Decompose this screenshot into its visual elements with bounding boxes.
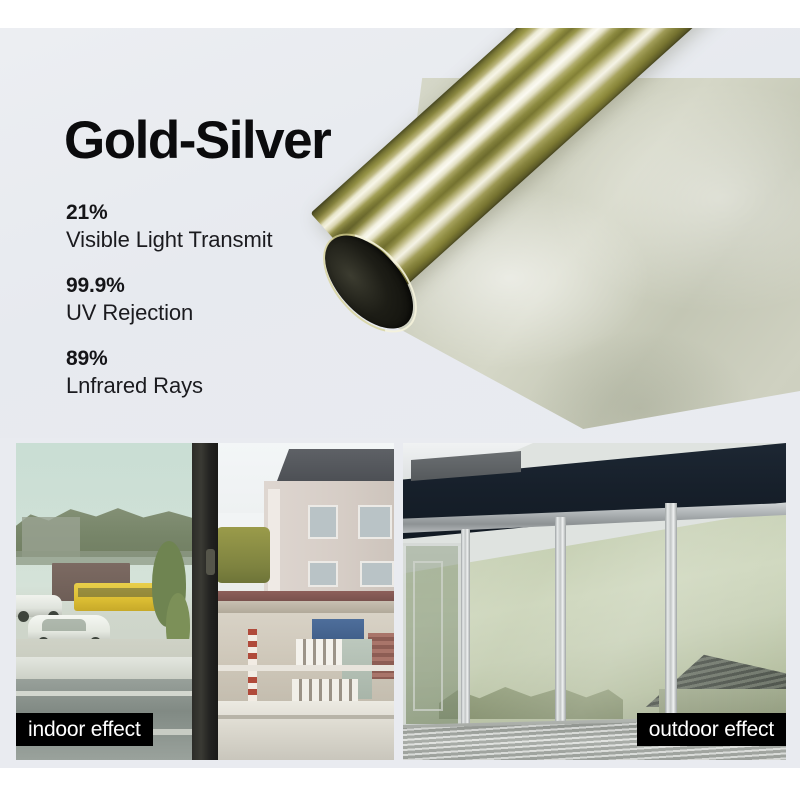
window-mullion [461, 529, 470, 727]
spec-value: 21% [66, 200, 366, 226]
product-banner: Gold-Silver 21% Visible Light Transmit 9… [0, 0, 800, 800]
deck-edge-line [216, 715, 394, 719]
house-window [308, 505, 338, 539]
spec-label: Visible Light Transmit [66, 226, 366, 255]
hero-section: Gold-Silver 21% Visible Light Transmit 9… [0, 28, 800, 438]
comparison-photo-strip: indoor effect ou [16, 443, 786, 760]
content-panel: Gold-Silver 21% Visible Light Transmit 9… [0, 28, 800, 768]
bus-windows [78, 588, 154, 597]
spec-list: 21% Visible Light Transmit 99.9% UV Reje… [66, 200, 366, 419]
spec-item-infrared-rays: 89% Lnfrared Rays [66, 346, 366, 401]
spec-label: UV Rejection [66, 299, 366, 328]
foreground-deck [216, 701, 394, 760]
film-roll-image [330, 28, 800, 438]
window-latch [206, 549, 215, 575]
house-window [308, 561, 338, 587]
spec-item-uv-rejection: 99.9% UV Rejection [66, 273, 366, 328]
house-window [358, 505, 392, 539]
spec-value: 99.9% [66, 273, 366, 299]
balcony-parapet [16, 657, 198, 679]
outdoor-effect-photo: outdoor effect [403, 443, 786, 760]
balcony-rail-upper [16, 691, 198, 696]
white-fence-lower [292, 679, 358, 701]
car-wheel [18, 611, 29, 622]
car-windshield [42, 619, 86, 631]
house-window [360, 561, 394, 587]
courtyard-railing [216, 665, 394, 671]
spec-value: 89% [66, 346, 366, 372]
gold-film-roll-body [311, 28, 800, 301]
product-title: Gold-Silver [64, 114, 330, 167]
yard-trees [216, 527, 270, 583]
outdoor-effect-caption: outdoor effect [637, 713, 786, 746]
window-mullion [665, 503, 677, 717]
spec-label: Lnfrared Rays [66, 372, 366, 401]
indoor-effect-caption: indoor effect [16, 713, 153, 746]
glass-door-panel [413, 561, 443, 711]
spec-item-visible-light-transmit: 21% Visible Light Transmit [66, 200, 366, 255]
window-mullion [555, 517, 566, 724]
silver-film-sheet [390, 78, 800, 438]
window-frame-mullion [192, 443, 218, 760]
indoor-effect-photo: indoor effect [16, 443, 394, 760]
